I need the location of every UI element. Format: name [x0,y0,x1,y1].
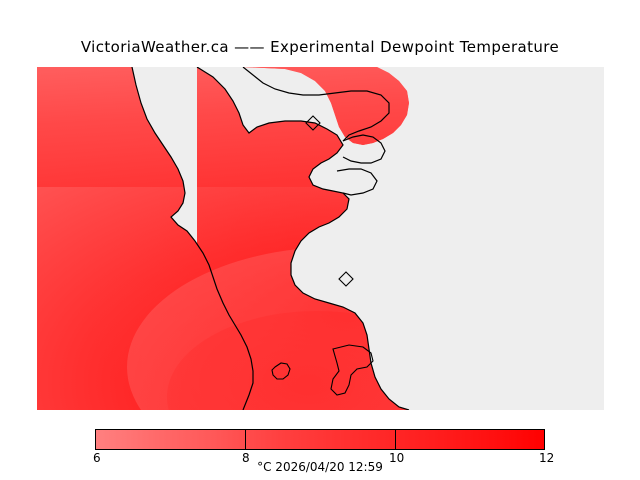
map-panel[interactable] [37,67,604,410]
colorbar-tick [245,429,246,450]
page-title: VictoriaWeather.ca —— Experimental Dewpo… [0,38,640,56]
colorbar-gradient [95,429,545,450]
colorbar-unit-timestamp: °C 2026/04/20 12:59 [0,460,640,474]
colorbar-tick [395,429,396,450]
colorbar: 6 8 10 12 [95,429,545,450]
dewpoint-heatmap[interactable] [37,67,604,410]
weather-map-page: VictoriaWeather.ca —— Experimental Dewpo… [0,0,640,480]
